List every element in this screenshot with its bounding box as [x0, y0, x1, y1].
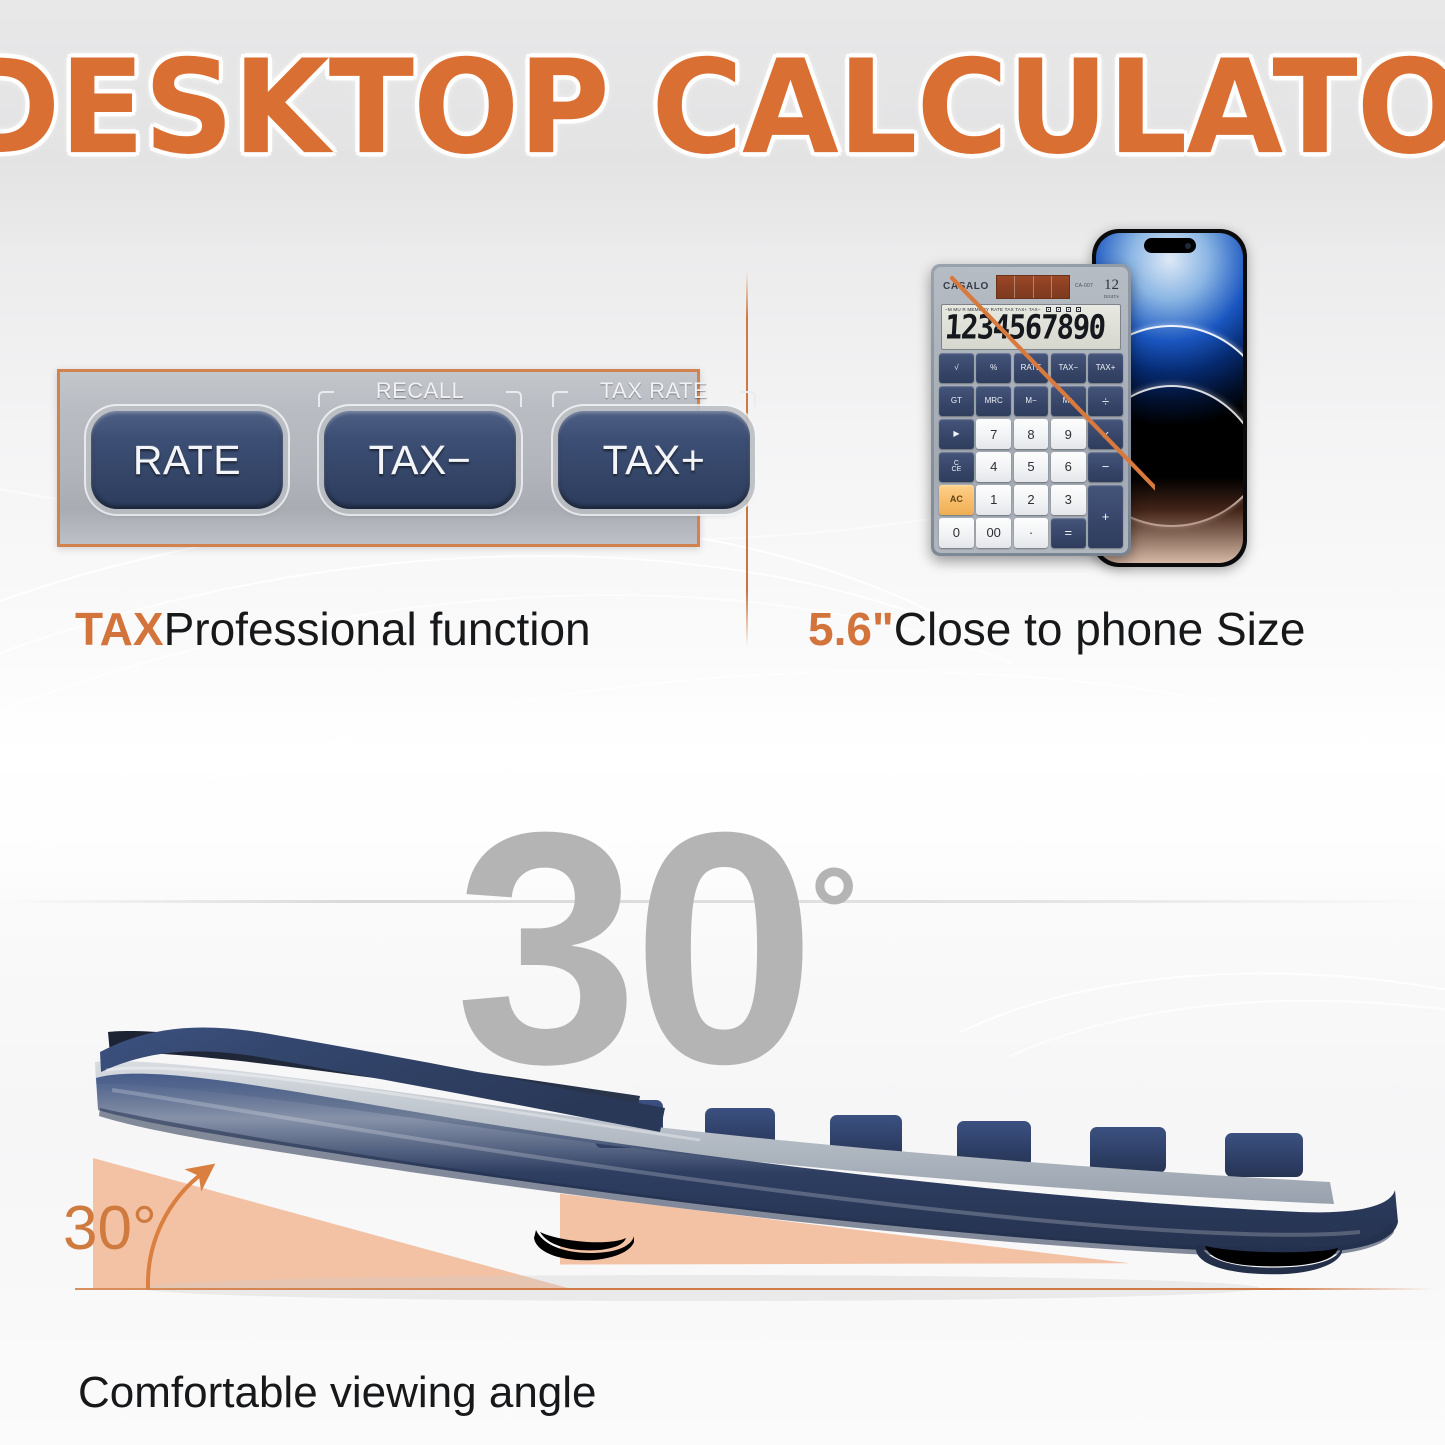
calc-key-[interactable]: · — [1014, 518, 1049, 548]
digit-count-value: 12 — [1104, 277, 1119, 293]
calculator-face: CASALO CA-007 12 DIGITS −M MU R MEMORY R… — [934, 267, 1128, 553]
calc-key-4[interactable]: 4 — [976, 452, 1011, 482]
calc-key-9[interactable]: 9 — [1051, 419, 1086, 449]
calc-key-label: 7 — [990, 428, 997, 441]
calc-key-label: 00 — [986, 526, 1000, 539]
recall-label: RECALL — [318, 381, 522, 415]
rate-button[interactable]: RATE — [91, 411, 283, 509]
calc-key-cce[interactable]: CCE — [939, 452, 974, 482]
calc-key-label: 1 — [990, 493, 997, 506]
calc-key-label: 6 — [1065, 460, 1072, 473]
angle-label: 30° — [63, 1193, 157, 1264]
calc-key-8[interactable]: 8 — [1014, 419, 1049, 449]
lcd-value: 1234567890 12. — [944, 310, 1118, 345]
feature-caption-size-text: Close to phone Size — [894, 603, 1306, 655]
calc-key-label: 5 — [1027, 460, 1034, 473]
calc-key-m+[interactable]: M+ — [1051, 386, 1086, 416]
page-title-text: DESKTOP CALCULATOR — [0, 42, 1445, 172]
calc-key-label: 0 — [953, 526, 960, 539]
solar-panel-icon — [996, 275, 1070, 299]
calc-key-[interactable]: ÷ — [1088, 386, 1123, 416]
calculator-keypad: √%RATETAX−TAX+GTMRCM−M+÷▶789×CCE456−AC12… — [939, 353, 1123, 548]
bracket-right-icon — [506, 391, 522, 407]
calc-key-label: 9 — [1065, 428, 1072, 441]
calc-key-3[interactable]: 3 — [1051, 485, 1086, 515]
calc-key-label: CCE — [952, 461, 962, 473]
page-title: DESKTOP CALCULATOR — [0, 48, 1445, 166]
calc-key-tax[interactable]: TAX− — [1051, 353, 1086, 383]
calc-key-label: M+ — [1063, 397, 1074, 405]
calc-key-label: 8 — [1027, 428, 1034, 441]
calc-key-label: % — [990, 364, 997, 372]
digit-count: 12 DIGITS — [1104, 277, 1119, 299]
calc-key-label: RATE — [1021, 364, 1042, 372]
calc-key-+[interactable]: + — [1088, 485, 1123, 548]
size-comparison: CASALO CA-007 12 DIGITS −M MU R MEMORY R… — [925, 225, 1155, 575]
calc-key-label: MRC — [985, 397, 1003, 405]
calc-key-label: √ — [954, 364, 958, 372]
calc-key-1[interactable]: 1 — [976, 485, 1011, 515]
calc-key-0[interactable]: 0 — [939, 518, 974, 548]
calc-key-label: − — [1102, 460, 1110, 473]
tax-plus-button[interactable]: TAX+ — [558, 411, 750, 509]
calc-key-[interactable]: % — [976, 353, 1011, 383]
calc-key-label: + — [1102, 510, 1110, 523]
bottom-caption: Comfortable viewing angle — [78, 1368, 597, 1418]
calc-key-2[interactable]: 2 — [1014, 485, 1049, 515]
tax-plus-button-label: TAX+ — [603, 437, 706, 484]
angle-watermark-degree-icon: ° — [810, 843, 858, 977]
calc-key-00[interactable]: 00 — [976, 518, 1011, 548]
feature-caption-tax-text: Professional function — [164, 603, 591, 655]
lcd-display: −M MU R MEMORY RATE TAX TAX+ TAX− 123456… — [941, 304, 1121, 350]
calculator-top-bar: CASALO CA-007 12 DIGITS — [939, 271, 1123, 303]
calc-key-[interactable]: × — [1088, 419, 1123, 449]
tax-key-panel: RECALL TAX RATE RATE TAX− TAX+ — [57, 369, 700, 547]
calc-key-label: ▶ — [953, 430, 959, 438]
digit-count-sub: DIGITS — [1104, 294, 1119, 299]
feature-caption-tax-highlight: TAX — [75, 603, 164, 655]
bracket-left-icon — [318, 391, 334, 407]
calc-key-label: TAX+ — [1096, 364, 1116, 372]
calc-key-[interactable]: − — [1088, 452, 1123, 482]
recall-label-text: RECALL — [370, 378, 471, 404]
angle-arc-icon — [140, 1140, 310, 1310]
feature-caption-size: 5.6"Close to phone Size — [808, 602, 1305, 656]
tax-minus-button-label: TAX− — [369, 437, 472, 484]
tax-rate-label: TAX RATE — [552, 381, 756, 415]
tax-minus-button[interactable]: TAX− — [324, 411, 516, 509]
calc-key-label: 4 — [990, 460, 997, 473]
brand-logo: CASALO — [943, 281, 989, 292]
calc-key-label: × — [1102, 428, 1110, 441]
bracket-left-icon — [552, 391, 568, 407]
dynamic-island-icon — [1144, 238, 1196, 253]
infographic-canvas: DESKTOP CALCULATOR RECALL TAX RATE RATE … — [0, 0, 1445, 1445]
calc-key-[interactable]: ▶ — [939, 419, 974, 449]
bracket-right-icon — [740, 391, 756, 407]
calc-key-label: GT — [951, 397, 962, 405]
calc-key-6[interactable]: 6 — [1051, 452, 1086, 482]
model-number: CA-007 — [1075, 283, 1093, 289]
calc-key-7[interactable]: 7 — [976, 419, 1011, 449]
calc-key-[interactable]: √ — [939, 353, 974, 383]
calc-key-rate[interactable]: RATE — [1014, 353, 1049, 383]
calc-key-5[interactable]: 5 — [1014, 452, 1049, 482]
feature-caption-size-highlight: 5.6" — [808, 603, 894, 655]
feature-caption-tax: TAXProfessional function — [75, 602, 591, 656]
calc-key-label: ÷ — [1102, 395, 1109, 408]
tax-rate-label-text: TAX RATE — [594, 378, 714, 404]
calc-key-ac[interactable]: AC — [939, 485, 974, 515]
calc-key-label: M− — [1025, 397, 1036, 405]
calc-key-m[interactable]: M− — [1014, 386, 1049, 416]
calc-key-[interactable]: = — [1051, 518, 1086, 548]
calc-key-label: TAX− — [1058, 364, 1078, 372]
rate-button-label: RATE — [133, 437, 241, 484]
calc-key-label: · — [1029, 526, 1033, 539]
calc-key-tax+[interactable]: TAX+ — [1088, 353, 1123, 383]
calc-key-label: 2 — [1027, 493, 1034, 506]
calculator-front-view: CASALO CA-007 12 DIGITS −M MU R MEMORY R… — [931, 264, 1131, 556]
calc-key-mrc[interactable]: MRC — [976, 386, 1011, 416]
calc-key-gt[interactable]: GT — [939, 386, 974, 416]
calc-key-label: = — [1064, 526, 1072, 539]
calc-key-label: 3 — [1065, 493, 1072, 506]
calc-key-label: AC — [950, 495, 963, 504]
